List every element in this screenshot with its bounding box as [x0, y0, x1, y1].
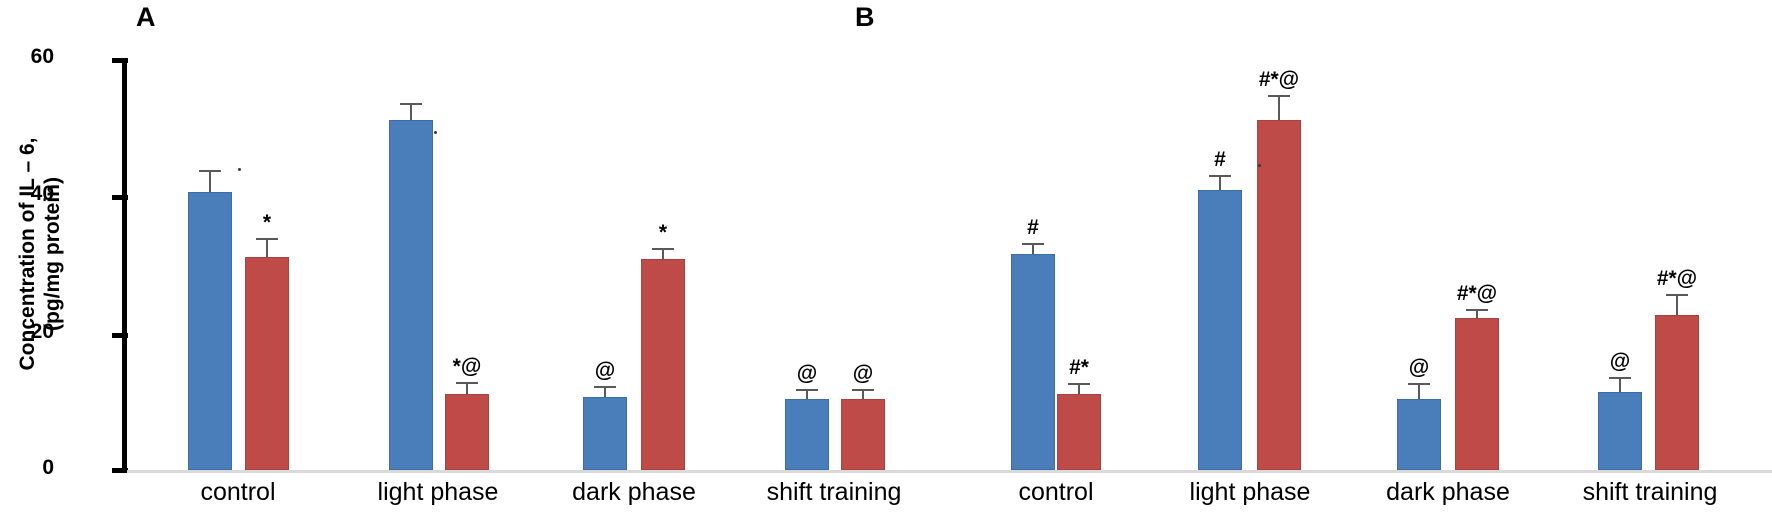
- errorbar-stem-b-dark-blue: [1418, 383, 1420, 398]
- errorbar-cap-a-dark-blue: [594, 386, 616, 388]
- bar-b-control-red: [1057, 394, 1101, 470]
- errorbar-stem-b-light-red: [1278, 95, 1280, 120]
- x-axis-label-6: dark phase: [1386, 480, 1510, 505]
- bar-b-dark-red: [1455, 318, 1499, 470]
- panel-letter-a: A: [136, 4, 156, 31]
- x-axis-label-1: light phase: [378, 480, 499, 505]
- errorbar-stem-a-control-red: [266, 238, 268, 257]
- significance-label-a-dark-red: *: [659, 222, 667, 243]
- stray-dot-0: [238, 168, 241, 171]
- figure-root: A B Concentration of IL – 6, (pg/mg prot…: [0, 0, 1772, 527]
- significance-label-a-shift-blue: @: [797, 363, 817, 384]
- y-tick-60: [112, 58, 128, 63]
- errorbar-cap-a-light-red: [456, 382, 478, 384]
- errorbar-stem-b-shift-red: [1676, 294, 1678, 315]
- significance-label-b-light-blue: #: [1214, 149, 1226, 170]
- errorbar-cap-b-dark-blue: [1408, 383, 1430, 385]
- stray-dot-2: [1258, 164, 1261, 167]
- significance-label-b-shift-blue: @: [1610, 351, 1630, 372]
- bar-b-shift-red: [1655, 315, 1699, 470]
- significance-label-a-shift-red: @: [853, 363, 873, 384]
- y-tick-20: [112, 333, 128, 338]
- y-tick-label-20: 20: [31, 321, 54, 342]
- x-axis-label-4: control: [1018, 480, 1093, 505]
- bar-b-dark-blue: [1397, 399, 1441, 470]
- errorbar-cap-b-shift-red: [1666, 294, 1688, 296]
- bar-b-light-red: [1257, 120, 1301, 470]
- significance-label-a-control-red: *: [263, 212, 271, 233]
- significance-label-b-dark-red: #*@: [1457, 283, 1497, 304]
- errorbar-stem-a-light-blue: [410, 103, 412, 119]
- errorbar-cap-a-dark-red: [652, 248, 674, 250]
- errorbar-cap-a-shift-blue: [796, 389, 818, 391]
- y-tick-0: [112, 468, 128, 473]
- x-axis-label-2: dark phase: [572, 480, 696, 505]
- plot-area: [127, 40, 1772, 472]
- errorbar-stem-a-control-blue: [209, 170, 211, 192]
- errorbar-cap-a-control-red: [256, 238, 278, 240]
- errorbar-cap-b-light-red: [1268, 95, 1290, 97]
- y-tick-label-60: 60: [31, 46, 54, 67]
- bar-a-shift-red: [841, 399, 885, 470]
- errorbar-cap-a-light-blue: [400, 103, 422, 105]
- bar-a-control-blue: [188, 192, 232, 470]
- stray-dot-1: [434, 131, 437, 134]
- bar-a-light-blue: [389, 120, 433, 470]
- x-axis-label-3: shift training: [767, 480, 902, 505]
- errorbar-cap-b-shift-blue: [1609, 377, 1631, 379]
- bar-a-control-red: [245, 257, 289, 470]
- significance-label-b-light-red: #*@: [1259, 69, 1299, 90]
- significance-label-a-dark-blue: @: [595, 360, 615, 381]
- errorbar-stem-b-shift-blue: [1619, 377, 1621, 392]
- y-tick-label-40: 40: [31, 183, 54, 204]
- significance-label-b-shift-red: #*@: [1657, 268, 1697, 289]
- errorbar-cap-a-shift-red: [852, 389, 874, 391]
- significance-label-a-light-red: *@: [453, 356, 482, 377]
- significance-label-b-control-red: #*: [1069, 357, 1089, 378]
- bar-b-control-blue: [1011, 254, 1055, 470]
- bar-a-shift-blue: [785, 399, 829, 470]
- x-axis-label-0: control: [200, 480, 275, 505]
- errorbar-stem-b-light-blue: [1219, 175, 1221, 190]
- bar-a-dark-blue: [583, 397, 627, 470]
- panel-letter-b: B: [855, 4, 875, 31]
- x-axis-label-7: shift training: [1583, 480, 1718, 505]
- errorbar-cap-b-dark-red: [1466, 309, 1488, 311]
- y-tick-40: [112, 195, 128, 200]
- errorbar-cap-a-control-blue: [199, 170, 221, 172]
- bar-b-shift-blue: [1598, 392, 1642, 470]
- bar-a-dark-red: [641, 259, 685, 470]
- y-axis-title: Concentration of IL – 6, (pg/mg protein): [15, 44, 67, 464]
- significance-label-b-control-blue: #: [1027, 217, 1039, 238]
- bar-b-light-blue: [1198, 190, 1242, 470]
- significance-label-b-dark-blue: @: [1409, 357, 1429, 378]
- errorbar-cap-b-control-blue: [1022, 243, 1044, 245]
- errorbar-cap-b-control-red: [1068, 383, 1090, 385]
- x-axis-label-5: light phase: [1190, 480, 1311, 505]
- bar-a-light-red: [445, 394, 489, 470]
- y-tick-label-0: 0: [42, 457, 54, 478]
- errorbar-cap-b-light-blue: [1209, 175, 1231, 177]
